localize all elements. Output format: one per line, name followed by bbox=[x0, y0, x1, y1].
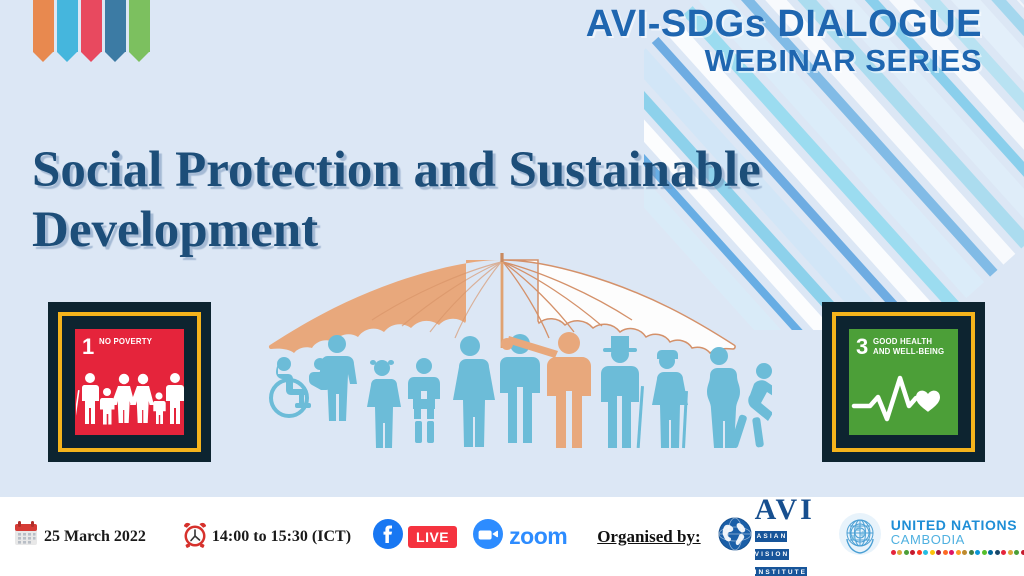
mother-with-baby bbox=[309, 335, 357, 421]
facebook-icon[interactable] bbox=[373, 519, 403, 554]
boy bbox=[408, 358, 440, 443]
sdg-card-3: 3 GOOD HEALTH AND WELL-BEING bbox=[822, 302, 985, 462]
un-sdg-dot bbox=[930, 550, 935, 555]
ribbon-flag-5 bbox=[129, 0, 150, 52]
facebook-live-item[interactable]: LIVE bbox=[373, 519, 457, 554]
un-sdg-dot bbox=[956, 550, 961, 555]
un-sdg-dot bbox=[982, 550, 987, 555]
avi-logo: AVI ASIAN VISION INSTITUTE bbox=[717, 495, 815, 576]
un-sdg-dot bbox=[988, 550, 993, 555]
date-text: 25 March 2022 bbox=[44, 528, 146, 546]
series-header: AVI-SDGs DIALOGUE WEBINAR SERIES bbox=[586, 5, 982, 76]
un-sdg-dot bbox=[936, 550, 941, 555]
un-emblem-icon bbox=[837, 511, 883, 562]
sdg-1-label: NO POVERTY bbox=[99, 337, 152, 347]
elderly-woman-with-cane bbox=[652, 350, 688, 448]
calendar-icon bbox=[14, 521, 38, 552]
un-sdg-dot bbox=[897, 550, 902, 555]
un-line1: UNITED NATIONS bbox=[891, 518, 1024, 533]
sdg-card-1-inner-frame: 1 NO POVERTY bbox=[71, 325, 188, 439]
alarm-clock-icon bbox=[181, 520, 209, 553]
umbrella-social-protection-illustration bbox=[262, 246, 772, 451]
un-cambodia-logo: UNITED NATIONS CAMBODIA bbox=[837, 511, 1024, 562]
un-sdg-dot bbox=[917, 550, 922, 555]
un-line2: CAMBODIA bbox=[891, 533, 1024, 547]
girl bbox=[367, 360, 401, 448]
date-item: 25 March 2022 bbox=[14, 521, 146, 552]
un-sdg-dot bbox=[969, 550, 974, 555]
organised-by-item: Organised by: bbox=[597, 527, 700, 547]
sdg-tile-3: 3 GOOD HEALTH AND WELL-BEING bbox=[849, 329, 958, 435]
organised-by-label: Organised by: bbox=[597, 527, 700, 547]
un-sdg-dot bbox=[962, 550, 967, 555]
un-sdg-dot bbox=[891, 550, 896, 555]
avi-full-name: ASIAN VISION INSTITUTE bbox=[755, 531, 807, 576]
ribbon-flag-4 bbox=[105, 0, 126, 52]
umbrella-tip bbox=[500, 253, 503, 262]
series-title-line1: AVI-SDGs DIALOGUE bbox=[586, 5, 982, 44]
ribbon-flag-1 bbox=[33, 0, 54, 52]
un-sdg-dot bbox=[904, 550, 909, 555]
people-group-right bbox=[601, 336, 772, 451]
sdg-3-label: GOOD HEALTH AND WELL-BEING bbox=[873, 337, 945, 356]
family-group-icon bbox=[75, 370, 184, 431]
zoom-label: zoom bbox=[509, 523, 567, 550]
avi-acronym: AVI bbox=[755, 493, 815, 526]
time-item: 14:00 to 15:30 (ICT) bbox=[181, 520, 351, 553]
un-sdg-dot bbox=[995, 550, 1000, 555]
sdg-3-number: 3 bbox=[856, 337, 868, 357]
live-badge: LIVE bbox=[408, 526, 457, 548]
people-group-left bbox=[271, 334, 540, 448]
globe-icon bbox=[717, 516, 753, 557]
un-sdg-dot bbox=[949, 550, 954, 555]
webinar-poster: AVI-SDGs DIALOGUE WEBINAR SERIES Social … bbox=[0, 0, 1024, 576]
sdg-card-3-gold-frame: 3 GOOD HEALTH AND WELL-BEING bbox=[832, 312, 975, 452]
un-sdg-dot bbox=[1008, 550, 1013, 555]
baby bbox=[314, 358, 326, 370]
un-sdg-dots bbox=[891, 550, 1024, 555]
footer-bar: 25 March 2022 14:00 to 15:30 (ICT) bbox=[0, 497, 1024, 576]
elderly-man-with-cane bbox=[601, 336, 644, 448]
un-sdg-dot bbox=[910, 550, 915, 555]
woman bbox=[453, 336, 495, 447]
hair bbox=[657, 350, 678, 359]
un-sdg-dot bbox=[943, 550, 948, 555]
decorative-ribbon bbox=[33, 0, 150, 52]
un-sdg-dot bbox=[1014, 550, 1019, 555]
sdg-card-3-inner-frame: 3 GOOD HEALTH AND WELL-BEING bbox=[845, 325, 962, 439]
sdg-card-1-gold-frame: 1 NO POVERTY bbox=[58, 312, 201, 452]
un-sdg-dot bbox=[1001, 550, 1006, 555]
sdg-tile-1: 1 NO POVERTY bbox=[75, 329, 184, 435]
ribbon-flag-2 bbox=[57, 0, 78, 52]
zoom-camera-icon[interactable] bbox=[473, 519, 503, 554]
un-sdg-dot bbox=[975, 550, 980, 555]
sdg-card-1: 1 NO POVERTY bbox=[48, 302, 211, 462]
zoom-item[interactable]: zoom bbox=[473, 519, 567, 554]
umbrella-pole bbox=[501, 262, 504, 348]
heartbeat-icon bbox=[849, 370, 958, 431]
ribbon-flag-3 bbox=[81, 0, 102, 52]
series-title-line2: WEBINAR SERIES bbox=[586, 45, 982, 77]
wheelchair-user bbox=[271, 357, 311, 416]
un-sdg-dot bbox=[923, 550, 928, 555]
sdg-1-number: 1 bbox=[82, 337, 94, 357]
time-text: 14:00 to 15:30 (ICT) bbox=[212, 528, 351, 546]
page-title: Social Protection and Sustainable Develo… bbox=[32, 140, 912, 260]
